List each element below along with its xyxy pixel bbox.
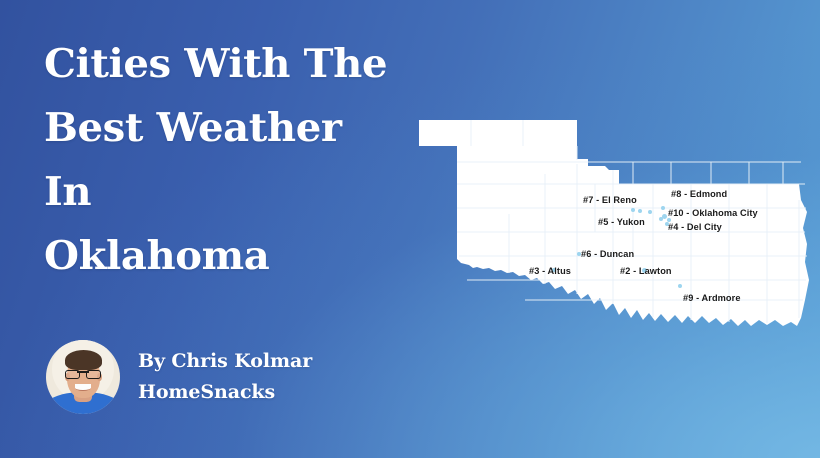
city-dot-edmond[interactable] bbox=[661, 206, 665, 210]
title-line-2: Best Weather bbox=[44, 96, 456, 160]
metro-dot-4 bbox=[659, 217, 663, 221]
poster-canvas: Cities With The Best Weather In Oklahoma… bbox=[0, 0, 820, 458]
byline: By Chris Kolmar HomeSnacks bbox=[46, 340, 312, 414]
city-label-ardmore[interactable]: #9 - Ardmore bbox=[683, 293, 741, 303]
city-label-del-city[interactable]: #4 - Del City bbox=[668, 222, 722, 232]
title-line-1: Cities With The bbox=[44, 32, 456, 96]
title-line-3: In bbox=[44, 160, 456, 224]
city-label-edmond[interactable]: #8 - Edmond bbox=[671, 189, 727, 199]
avatar bbox=[46, 340, 120, 414]
city-dot-el-reno[interactable] bbox=[648, 210, 652, 214]
title-line-4: Oklahoma bbox=[44, 224, 456, 288]
metro-dot-3 bbox=[665, 222, 669, 226]
byline-publication: HomeSnacks bbox=[138, 377, 312, 408]
city-dot-ardmore[interactable] bbox=[678, 284, 682, 288]
page-title: Cities With The Best Weather In Oklahoma bbox=[44, 32, 444, 288]
city-label-el-reno[interactable]: #7 - El Reno bbox=[583, 195, 637, 205]
city-label-oklahoma-city[interactable]: #10 - Oklahoma City bbox=[668, 208, 758, 218]
byline-author: By Chris Kolmar bbox=[138, 346, 312, 377]
byline-text: By Chris Kolmar HomeSnacks bbox=[138, 346, 312, 408]
city-label-altus[interactable]: #3 - Altus bbox=[529, 266, 571, 276]
city-label-lawton[interactable]: #2 - Lawton bbox=[620, 266, 672, 276]
metro-dot-1 bbox=[631, 208, 635, 212]
city-label-duncan[interactable]: #6 - Duncan bbox=[581, 249, 634, 259]
city-label-yukon[interactable]: #5 - Yukon bbox=[598, 217, 645, 227]
city-dot-yukon[interactable] bbox=[638, 209, 642, 213]
oklahoma-map: #2 - Lawton #3 - Altus #4 - Del City #5 … bbox=[405, 104, 817, 336]
glasses-bridge bbox=[77, 371, 89, 373]
avatar-hair bbox=[65, 350, 103, 371]
